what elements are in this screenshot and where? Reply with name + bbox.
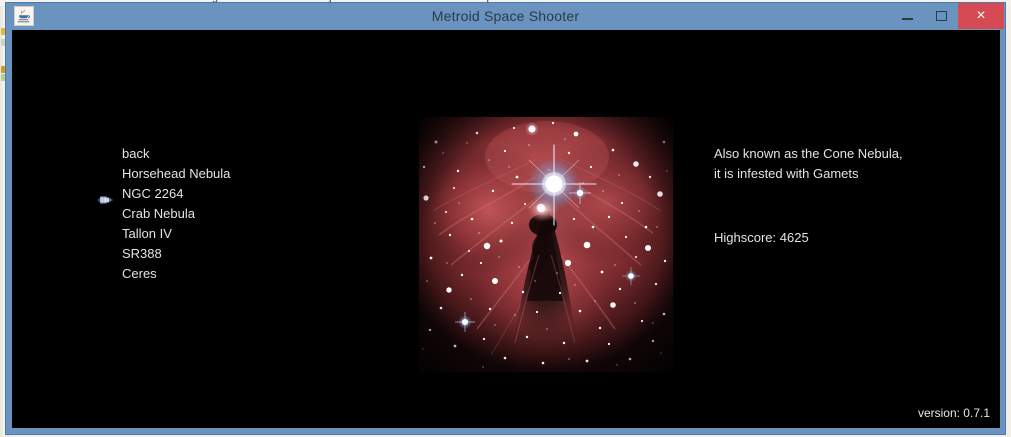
menu-item-label: Ceres: [122, 264, 157, 284]
nebula-selection-menu[interactable]: back Horsehead Nebula: [96, 144, 376, 284]
menu-item-label: back: [122, 144, 149, 164]
menu-item-ngc-2264[interactable]: NGC 2264: [96, 184, 376, 204]
menu-item-label: SR388: [122, 244, 162, 264]
application-window: Metroid Space Shooter × back Horsehead N…: [5, 2, 1006, 435]
nebula-description-line-2: it is infested with Gamets: [714, 164, 994, 184]
maximize-button[interactable]: [924, 3, 958, 29]
menu-item-label: NGC 2264: [122, 184, 183, 204]
nebula-description-line-1: Also known as the Cone Nebula,: [714, 144, 994, 164]
close-glyph: ×: [976, 8, 985, 24]
minimize-button[interactable]: [890, 3, 924, 29]
ship-cursor-icon: [98, 190, 113, 198]
maximize-icon: [924, 3, 958, 29]
nebula-info-panel: Also known as the Cone Nebula, it is inf…: [714, 144, 994, 184]
close-button[interactable]: ×: [958, 3, 1004, 29]
menu-item-label: Crab Nebula: [122, 204, 195, 224]
title-bar[interactable]: Metroid Space Shooter ×: [6, 3, 1005, 29]
game-canvas[interactable]: back Horsehead Nebula: [12, 30, 1000, 428]
menu-item-label: Tallon IV: [122, 224, 172, 244]
ngc-2264-cone-nebula-image: [417, 115, 675, 374]
highscore-label: Highscore: 4625: [714, 230, 809, 245]
menu-item-label: Horsehead Nebula: [122, 164, 230, 184]
menu-item-sr388[interactable]: SR388: [96, 244, 376, 264]
menu-item-crab-nebula[interactable]: Crab Nebula: [96, 204, 376, 224]
close-icon: ×: [958, 3, 1004, 29]
menu-item-tallon-iv[interactable]: Tallon IV: [96, 224, 376, 244]
window-title: Metroid Space Shooter: [6, 3, 1005, 29]
minimize-icon: [890, 3, 924, 29]
menu-item-horsehead-nebula[interactable]: Horsehead Nebula: [96, 164, 376, 184]
menu-item-ceres[interactable]: Ceres: [96, 264, 376, 284]
menu-item-back[interactable]: back: [96, 144, 376, 164]
version-label: version: 0.7.1: [918, 406, 990, 420]
